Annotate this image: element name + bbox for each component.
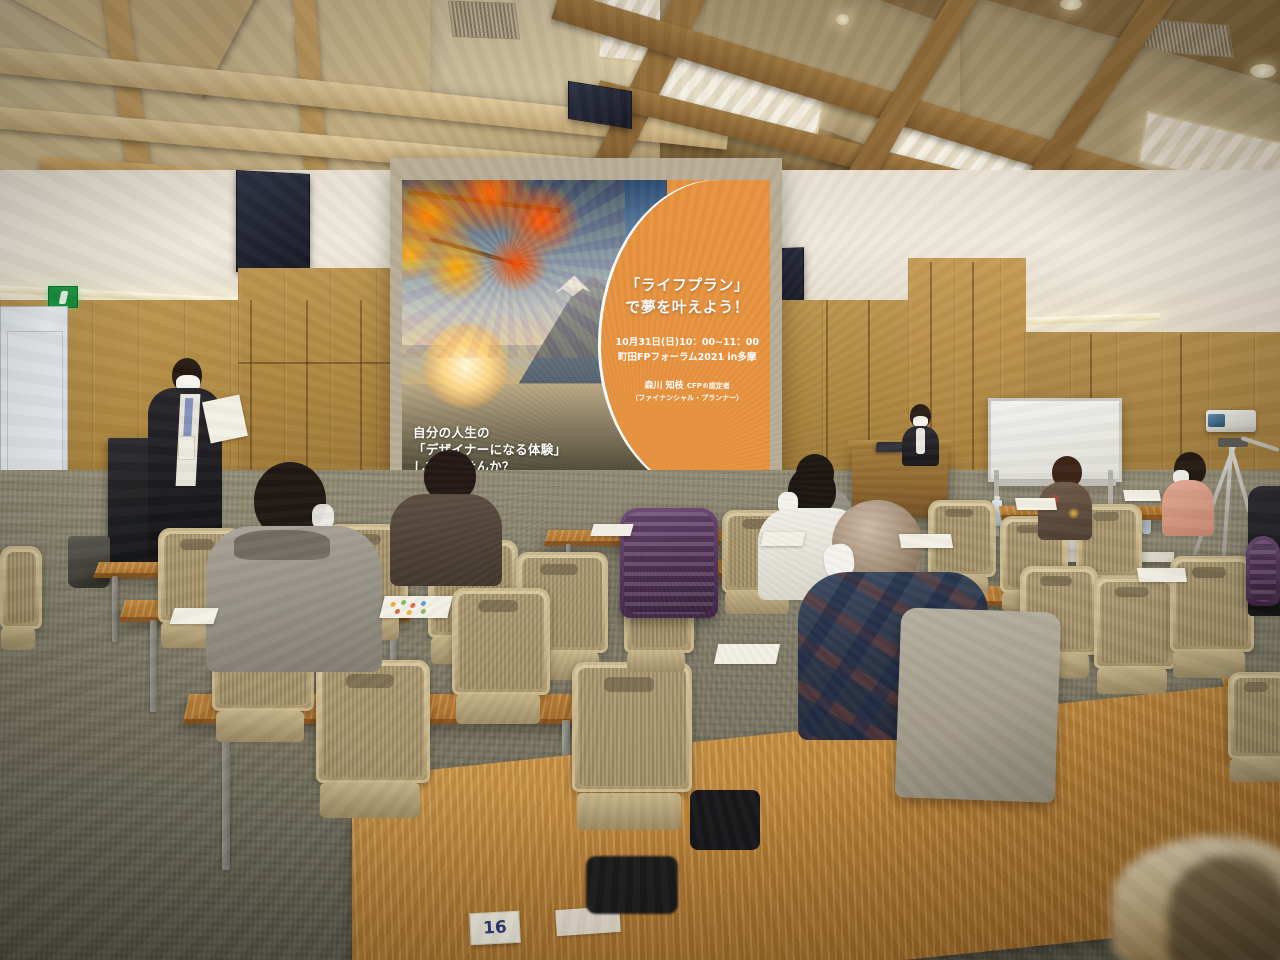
foreground-chair-blur: [1168, 856, 1280, 960]
presenter-cert: CFP®認定者: [687, 382, 730, 390]
presenter-person: [900, 404, 940, 464]
mc-lanyard-badge: [178, 436, 195, 460]
attendee-person: [1038, 456, 1092, 532]
table-leg: [150, 620, 157, 712]
slide-meta: 10月31日(日)10：00~11：00 町田FPフォーラム2021 in多摩: [614, 335, 761, 365]
draped-purple-jacket: [1246, 536, 1280, 606]
handout-paper[interactable]: [899, 534, 953, 548]
table-leg: [222, 720, 230, 870]
handout-paper[interactable]: [1015, 498, 1057, 510]
bag: [690, 790, 760, 850]
attendee-patterned-top: [1038, 482, 1092, 540]
handout-paper[interactable]: [379, 596, 452, 618]
camcorder: [1206, 410, 1256, 432]
presenter-role: （ファイナンシャル・プランナー）: [614, 393, 761, 404]
draped-purple-jacket: [620, 508, 718, 618]
handout-paper[interactable]: [169, 608, 218, 624]
ceiling-downlight: [836, 14, 849, 25]
presenter-name: 森川 知枝: [645, 381, 684, 391]
slide-title-line1: 「ライフプラン」: [614, 274, 761, 297]
slide-presenter: 森川 知枝 CFP®認定者 （ファイナンシャル・プランナー）: [614, 379, 761, 405]
chair[interactable]: [316, 660, 424, 818]
attendee-hoodie: [390, 494, 502, 586]
ceiling-downlight: [1250, 64, 1276, 78]
ceiling-vent: [448, 1, 520, 40]
attendee-person: [1160, 452, 1216, 530]
slide-datetime: 10月31日(日)10：00~11：00: [614, 335, 761, 350]
attendee-person: [390, 450, 502, 580]
handout-paper[interactable]: [714, 644, 780, 664]
attendee-top: [1162, 480, 1214, 536]
draped-grey-jacket: [895, 607, 1062, 802]
handout-paper[interactable]: [761, 532, 806, 546]
slide-left-line1: 自分の人生の: [413, 425, 604, 442]
emergency-exit-sign: [48, 286, 78, 308]
table-number-card[interactable]: 16: [469, 911, 521, 946]
attendee-hood: [234, 530, 330, 560]
slide-event-name: 町田FPフォーラム2021 in多摩: [614, 350, 761, 365]
slide-title: 「ライフプラン」 で夢を叶えよう！: [614, 274, 761, 319]
wall-speaker-icon: [236, 170, 310, 276]
table-number-value: 16: [483, 917, 508, 938]
chair[interactable]: [572, 662, 686, 830]
chair[interactable]: [0, 546, 36, 650]
handout-paper[interactable]: [1123, 490, 1161, 501]
chair[interactable]: [1094, 576, 1170, 694]
slide-right-column: 「ライフプラン」 で夢を叶えよう！ 10月31日(日)10：00~11：00 町…: [614, 180, 761, 498]
autumn-foliage: [402, 180, 625, 358]
table-leg: [112, 576, 118, 642]
handout-paper[interactable]: [1137, 568, 1187, 582]
ceiling-downlight: [1060, 0, 1082, 10]
presenter-blouse: [916, 428, 925, 454]
seminar-room-photo: 自分の人生の 「デザイナーになる体験」 してみませんか？ 「ライフプラン」 で夢…: [0, 0, 1280, 960]
panel-seam: [238, 362, 398, 364]
handout-paper[interactable]: [590, 524, 633, 536]
slide-title-line2: で夢を叶えよう！: [614, 296, 761, 319]
attendee-person: [206, 462, 382, 662]
chair[interactable]: [1228, 672, 1280, 782]
chair[interactable]: [452, 588, 544, 724]
bag: [586, 856, 678, 914]
